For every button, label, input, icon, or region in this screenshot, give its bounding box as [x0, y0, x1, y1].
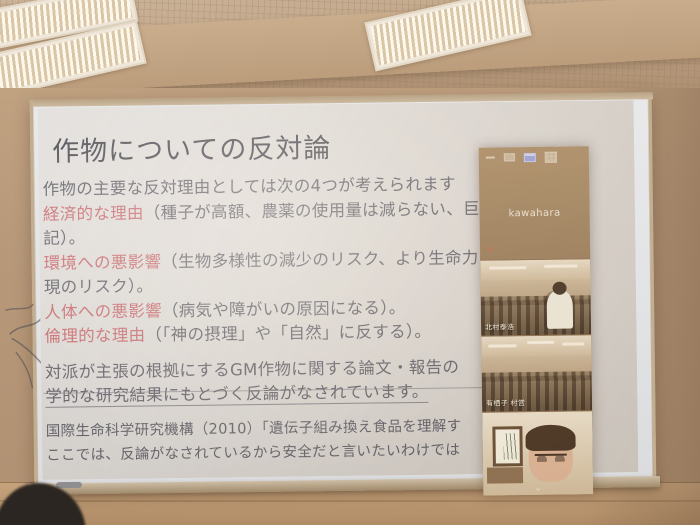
slide-line-text: 国際生命科学研究機構（2010）「遺伝子組み換え食品を理解す: [46, 418, 462, 439]
participant-name: 有栖子 村営: [486, 398, 525, 409]
participant-desk: [487, 467, 523, 483]
slide-line-text: （病気や障がいの原因になる）。: [162, 298, 406, 320]
slide-line-text: ここでは、反論がなされているから安全だと言いたいわけでは: [46, 442, 460, 463]
self-video-name: kawahara: [509, 207, 561, 219]
video-conference-sidebar[interactable]: kawahara ✕ 北村泰浩 有栖子 村営: [479, 146, 594, 495]
classroom-scene: 作物についての反対論 作物の主要な反対理由としては次の4つが考えられます 経済的…: [0, 0, 700, 525]
slide-keyword: 経済的な理由: [43, 203, 144, 223]
slide-keyword: 人体への悪影響: [44, 301, 162, 322]
slide-line-text: 対派が主張の根拠にするGM作物に関する論文・報告の: [45, 357, 459, 381]
slide-line-text: 学的な研究結果にもとづく反論がなされています。: [45, 382, 429, 408]
video-lamp: [544, 264, 577, 267]
minimize-icon[interactable]: [486, 157, 495, 159]
video-lamp: [489, 266, 526, 269]
video-lamp: [527, 341, 553, 344]
self-video-tile[interactable]: kawahara ✕: [479, 166, 590, 259]
slide-keyword: 環境への悪影響: [43, 252, 161, 273]
sidebar-view-icon[interactable]: [524, 152, 536, 161]
video-view-toolbar[interactable]: [479, 146, 589, 167]
whiteboard-marker: [56, 482, 82, 488]
video-off-icon: ✕: [486, 248, 493, 255]
participant-glasses: [535, 454, 567, 462]
slide-keyword: 倫理的な理由: [44, 326, 145, 346]
participant-name: 北村泰浩: [485, 322, 514, 332]
video-lamp: [563, 342, 585, 345]
slide-line-text: 記）。: [43, 228, 85, 248]
participant-tile[interactable]: 有栖子 村営: [481, 334, 592, 411]
video-lamp: [488, 344, 517, 347]
slide-line-text: 作物の主要な反対理由としては次の4つが考えられます: [43, 174, 456, 198]
scroll-down-chevron-icon[interactable]: ⌄: [483, 481, 593, 493]
participant-hair: [525, 424, 575, 451]
slide-title: 作物についての反対論: [52, 126, 332, 169]
slide-line-text: 現のリスク）。: [44, 276, 154, 296]
participant-tile[interactable]: 北村泰浩: [480, 258, 591, 335]
video-ceiling: [480, 259, 590, 280]
wall-picture-frame: [492, 426, 523, 466]
speaker-view-icon[interactable]: [504, 153, 515, 161]
slide-line-text: （「神の摂理」や「自然」に反する）。: [145, 322, 431, 345]
slide-line-text: （種子が高額、農薬の使用量は減らない、巨大種苗: [144, 198, 531, 222]
gallery-view-icon[interactable]: [545, 151, 557, 162]
video-speaker-person: [547, 291, 573, 329]
